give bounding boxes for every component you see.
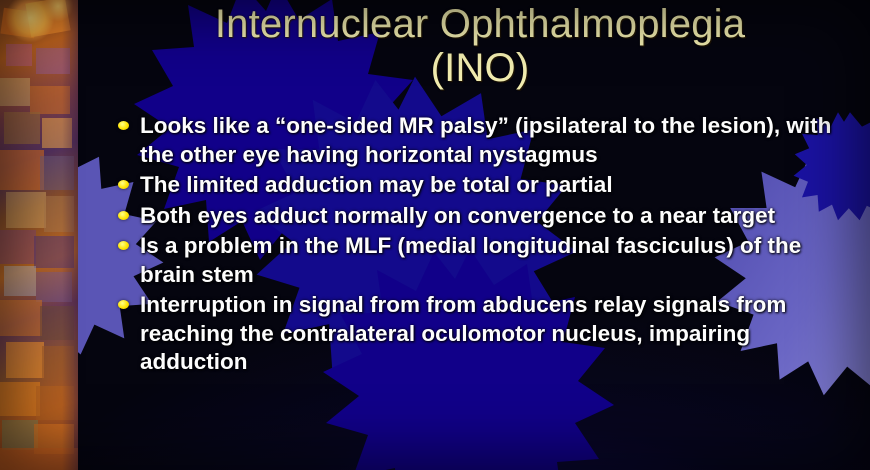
bullet-dot-icon — [118, 121, 129, 130]
bullet-list: Looks like a “one-sided MR palsy” (ipsil… — [112, 112, 852, 379]
bullet-item: Looks like a “one-sided MR palsy” (ipsil… — [112, 112, 852, 169]
bullet-text: Interruption in signal from from abducen… — [140, 292, 786, 374]
bullet-dot-icon — [118, 300, 129, 309]
bullet-item: Is a problem in the MLF (medial longitud… — [112, 232, 852, 289]
bullet-text: Is a problem in the MLF (medial longitud… — [140, 233, 801, 287]
bullet-text: The limited adduction may be total or pa… — [140, 172, 613, 197]
bullet-item: Interruption in signal from from abducen… — [112, 291, 852, 377]
slide-title-line1: Internuclear Ophthalmoplegia — [215, 2, 745, 46]
slide-title-line2: (INO) — [100, 46, 860, 90]
bullet-dot-icon — [118, 241, 129, 250]
strip-edge-shadow — [62, 0, 78, 470]
bullet-dot-icon — [118, 180, 129, 189]
bullet-item: The limited adduction may be total or pa… — [112, 171, 852, 200]
decorative-left-strip — [0, 0, 78, 470]
bullet-dot-icon — [118, 211, 129, 220]
bullet-item: Both eyes adduct normally on convergence… — [112, 202, 852, 231]
bullet-text: Both eyes adduct normally on convergence… — [140, 203, 775, 228]
slide-title: Internuclear Ophthalmoplegia (INO) — [100, 2, 860, 90]
bullet-text: Looks like a “one-sided MR palsy” (ipsil… — [140, 113, 831, 167]
presentation-slide: Internuclear Ophthalmoplegia (INO) Looks… — [0, 0, 870, 470]
